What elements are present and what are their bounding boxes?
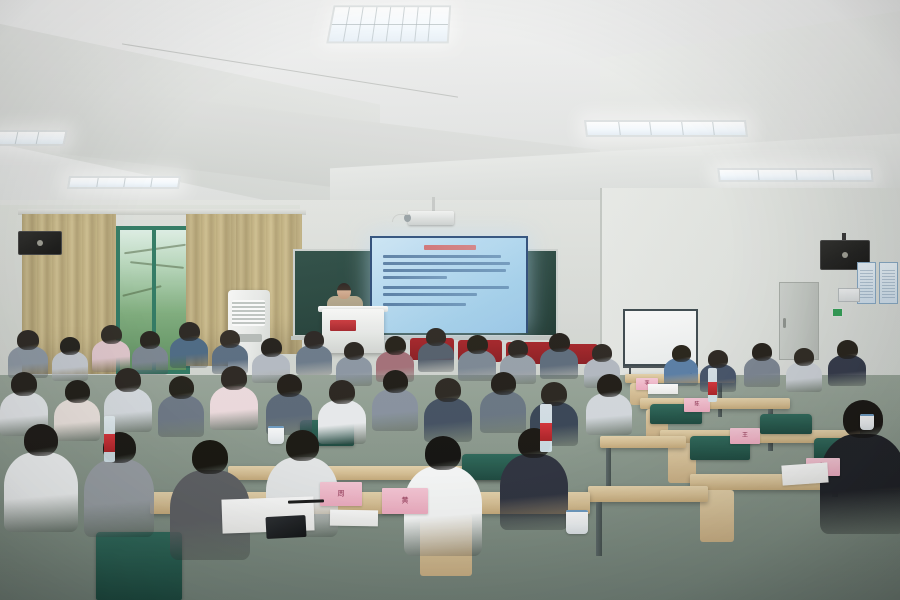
- desk-leg: [606, 448, 611, 488]
- attendee-head: [549, 333, 570, 352]
- attendee: [158, 376, 204, 441]
- attendee: [700, 350, 736, 396]
- cup: [860, 414, 874, 430]
- ceiling-light-panel: [717, 168, 873, 182]
- attendee-head: [169, 376, 194, 399]
- attendee-head: [837, 340, 858, 359]
- wall-speaker-left: [18, 231, 62, 255]
- attendee-head: [101, 325, 122, 344]
- projection-screen: [370, 236, 528, 333]
- nameplate: 黄: [382, 488, 428, 514]
- attendee-head: [115, 368, 141, 392]
- attendee-torso: [158, 395, 204, 437]
- attendee-torso: [52, 351, 88, 381]
- attendee-head: [467, 335, 488, 354]
- desk: [588, 486, 708, 502]
- attendee-torso: [170, 337, 208, 368]
- bottle: [540, 404, 552, 452]
- nameplate-glyph: 王: [742, 433, 748, 439]
- attendee-head: [286, 430, 319, 461]
- attendee-torso: [540, 348, 578, 379]
- attendee-head: [385, 336, 406, 355]
- door-handle[interactable]: [783, 318, 786, 328]
- attendee: [540, 333, 578, 383]
- attendee-head: [179, 322, 200, 341]
- attendee-head: [383, 370, 408, 393]
- attendee-torso: [210, 386, 258, 430]
- paper: [330, 510, 378, 527]
- nameplate-glyph: 黄: [402, 498, 409, 505]
- attendee: [828, 340, 866, 390]
- attendee-head: [24, 424, 58, 456]
- attendee-torso: [586, 393, 632, 435]
- attendee-head: [708, 350, 728, 368]
- attendee-torso: [296, 345, 332, 375]
- ceiling-light-panel: [0, 130, 68, 146]
- nameplate-glyph: 陈: [694, 403, 699, 408]
- attendee: [372, 370, 418, 435]
- attendee: [210, 366, 258, 434]
- attendee-head: [304, 331, 324, 349]
- exit-sign: [832, 308, 843, 317]
- attendee: [786, 348, 822, 396]
- attendee-torso: [786, 362, 822, 392]
- attendee-head: [672, 345, 691, 362]
- attendee-head: [426, 328, 446, 346]
- attendee: [500, 428, 568, 534]
- chair[interactable]: [760, 414, 812, 434]
- bottle: [104, 416, 115, 462]
- attendee-torso: [820, 434, 900, 534]
- ceiling-light-panel: [584, 120, 748, 137]
- attendee-head: [425, 436, 461, 470]
- attendee-head: [65, 380, 90, 403]
- attendee-head: [140, 331, 160, 349]
- attendee-head: [220, 330, 240, 348]
- notice-board: [879, 262, 898, 304]
- attendee-head: [491, 372, 516, 395]
- attendee-head: [192, 440, 228, 474]
- attendee: [52, 337, 88, 385]
- ac-vent: [232, 300, 265, 326]
- attendee-head: [508, 340, 528, 358]
- attendee-torso: [664, 358, 698, 386]
- attendee-head: [11, 372, 37, 396]
- attendee: [170, 322, 208, 372]
- attendee: [586, 374, 632, 439]
- desk-leg: [596, 502, 602, 556]
- attendee-head: [541, 382, 567, 406]
- paper: [648, 384, 678, 394]
- attendee-head: [261, 338, 282, 357]
- projector: [408, 211, 454, 225]
- attendee: [744, 343, 780, 391]
- nameplate: 周: [320, 482, 362, 506]
- attendee-head: [794, 348, 814, 366]
- classroom-photo: 周 黄 李 陈 王 张: [0, 0, 900, 600]
- attendee-torso: [500, 454, 568, 530]
- attendee: [84, 432, 154, 541]
- attendee-head: [277, 374, 302, 397]
- attendee-torso: [744, 357, 780, 387]
- podium-sign: [330, 320, 356, 331]
- attendee-head: [329, 380, 355, 404]
- attendee-torso: [480, 391, 526, 433]
- attendee-torso: [84, 459, 154, 537]
- attendee-torso: [828, 355, 866, 386]
- attendee-head: [60, 337, 80, 355]
- attendee: [296, 331, 332, 379]
- attendee-head: [592, 344, 612, 362]
- attendee-torso: [372, 389, 418, 431]
- attendee-head: [344, 342, 364, 360]
- attendee-torso: [418, 342, 454, 372]
- ceiling-light-panel: [326, 5, 451, 43]
- attendee-head: [17, 330, 39, 350]
- attendee: [418, 328, 454, 376]
- attendee-torso: [700, 364, 736, 392]
- projector-cable: [392, 214, 410, 222]
- cup: [268, 426, 284, 444]
- attendee-head: [221, 366, 247, 390]
- attendee-head: [752, 343, 772, 361]
- bottle: [708, 368, 717, 402]
- attendee-torso: [4, 452, 78, 532]
- attendee: [4, 424, 78, 536]
- nameplate: 陈: [684, 398, 710, 412]
- ceiling-light-panel: [67, 176, 181, 189]
- presenter-head: [337, 283, 351, 299]
- nameplate-glyph: 周: [338, 491, 345, 498]
- slide-title-bar: [424, 245, 476, 250]
- wall-sign: [838, 288, 860, 302]
- cup: [566, 510, 588, 534]
- smartphone[interactable]: [265, 515, 306, 539]
- attendee-head: [435, 378, 461, 402]
- paper: [781, 462, 828, 485]
- nameplate: 王: [730, 428, 760, 444]
- attendee-head: [597, 374, 622, 397]
